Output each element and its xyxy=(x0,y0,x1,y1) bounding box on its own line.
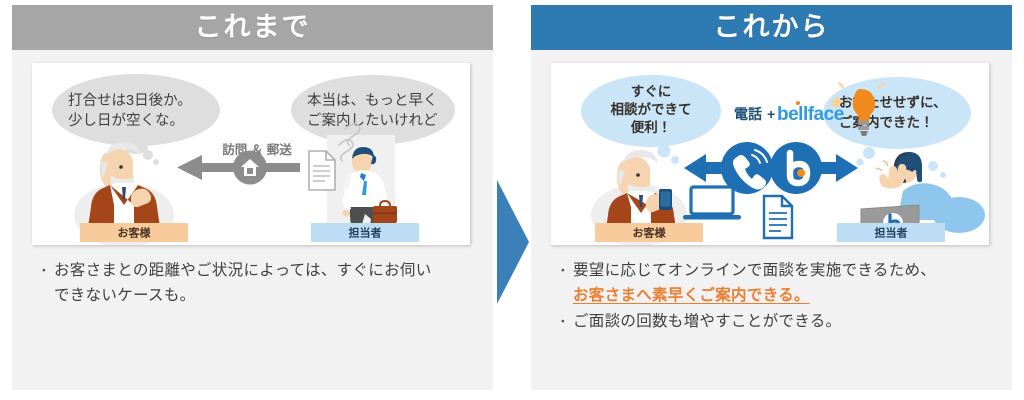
bullet-line-1: ご面談の回数も増やすことができる。 xyxy=(573,313,841,330)
svg-text:担当者: 担当者 xyxy=(349,226,382,240)
panel-after: これから すぐに 相談ができて 便利！ お待たせせずに、 ご案内できた！ xyxy=(531,5,1012,390)
svg-text:お客様: お客様 xyxy=(633,226,667,240)
svg-text:便利！: 便利！ xyxy=(631,119,672,135)
svg-text:お客様: お客様 xyxy=(118,226,152,240)
svg-text:すぐに: すぐに xyxy=(631,84,672,99)
illustration-after: すぐに 相談ができて 便利！ お待たせせずに、 ご案内できた！ xyxy=(551,63,989,245)
bullet-item: ・ お客さまとの距離やご状況によっては、すぐにお伺い できないケースも。 xyxy=(34,258,479,308)
bullet-marker: ・ xyxy=(553,309,573,334)
panel-before: これまで 打合せは3日後か。 少し日が空くな。 本当は、もっと早く ご案内したい… xyxy=(12,5,493,390)
illustration-before: 打合せは3日後か。 少し日が空くな。 本当は、もっと早く ご案内したいけれど xyxy=(32,63,470,245)
transition-arrow xyxy=(493,178,531,306)
bullet-marker: ・ xyxy=(34,258,54,283)
bullet-highlight: お客さまへ素早くご案内できる。 xyxy=(573,283,998,308)
bullet-text: お客さまとの距離やご状況によっては、すぐにお伺い できないケースも。 xyxy=(54,258,479,308)
bullet-line-2: できないケースも。 xyxy=(54,283,479,308)
svg-text:相談ができて: 相談ができて xyxy=(611,101,692,117)
svg-text:ご案内できた！: ご案内できた！ xyxy=(839,114,934,130)
bullet-list-before: ・ お客さまとの距離やご状況によっては、すぐにお伺い できないケースも。 xyxy=(34,258,479,309)
svg-text:担当者: 担当者 xyxy=(875,226,908,240)
panel-title-after: これから xyxy=(531,5,1012,50)
comparison-slide: これまで 打合せは3日後か。 少し日が空くな。 本当は、もっと早く ご案内したい… xyxy=(0,0,1024,400)
svg-text:+: + xyxy=(767,106,775,122)
bullet-text: ご面談の回数も増やすことができる。 xyxy=(573,309,998,334)
svg-text:ご案内したいけれど: ご案内したいけれど xyxy=(307,112,438,129)
bullet-line-1: お客さまとの距離やご状況によっては、すぐにお伺い xyxy=(54,262,432,279)
bullet-marker: ・ xyxy=(553,258,573,283)
bullet-item: ・ ご面談の回数も増やすことができる。 xyxy=(553,309,998,334)
svg-text:bellface: bellface xyxy=(777,104,844,125)
svg-text:少し日が空くな。: 少し日が空くな。 xyxy=(68,112,184,129)
svg-text:打合せは3日後か。: 打合せは3日後か。 xyxy=(68,92,192,109)
svg-text:電話: 電話 xyxy=(734,106,762,122)
panel-title-before: これまで xyxy=(12,5,493,50)
bullet-list-after: ・ 要望に応じてオンラインで面談を実施できるため、 お客さまへ素早くご案内できる… xyxy=(553,258,998,335)
panel-body-before: 打合せは3日後か。 少し日が空くな。 本当は、もっと早く ご案内したいけれど xyxy=(12,50,493,390)
panel-body-after: すぐに 相談ができて 便利！ お待たせせずに、 ご案内できた！ xyxy=(531,50,1012,390)
bullet-line-1: 要望に応じてオンラインで面談を実施できるため、 xyxy=(573,262,936,279)
bullet-item: ・ 要望に応じてオンラインで面談を実施できるため、 お客さまへ素早くご案内できる… xyxy=(553,258,998,308)
svg-text:本当は、もっと早く: 本当は、もっと早く xyxy=(307,92,438,109)
bullet-text: 要望に応じてオンラインで面談を実施できるため、 お客さまへ素早くご案内できる。 xyxy=(573,258,998,308)
